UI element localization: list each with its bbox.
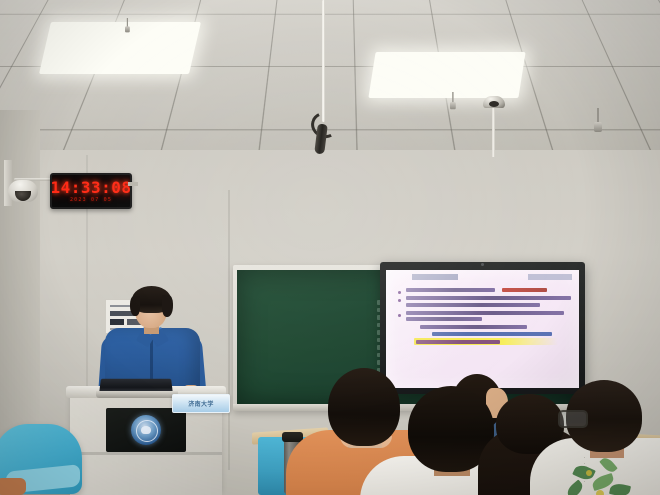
slide-highlighted-text (414, 338, 558, 345)
lectern-edge (70, 452, 222, 455)
wall-seam (228, 190, 230, 470)
person-arm-foreground (0, 478, 26, 495)
nameplate-text: 济南大学 (188, 399, 214, 408)
slide-subline (420, 325, 527, 329)
slide-bullet (398, 296, 570, 307)
slide-content (386, 270, 579, 388)
camera-mount-pole (492, 103, 495, 157)
classroom-photo: 14:33:08 2023 07 05 (0, 0, 660, 495)
slide-header (394, 274, 572, 281)
slide-header-tag-right (528, 274, 572, 280)
slide-bullet (398, 288, 570, 292)
display-indicator-led (481, 263, 484, 266)
shirt-print-text: . . . . . (584, 454, 586, 484)
lectern-front-panel (106, 408, 186, 452)
presenter-hair (132, 286, 171, 313)
dome-camera-icon (483, 96, 505, 108)
clock-date-display: 2023 07 05 (70, 198, 112, 203)
slide-bullet (398, 311, 570, 322)
led-wall-clock: 14:33:08 2023 07 05 (50, 173, 132, 209)
lectern-nameplate: 济南大学 (172, 394, 230, 413)
slide-bullet-list (398, 288, 570, 348)
slide-subline (432, 332, 552, 336)
clock-time-display: 14:33:08 (50, 180, 131, 196)
recessed-panel-light-left (39, 22, 201, 74)
university-crest-icon (131, 415, 161, 445)
microphone-cable (322, 0, 325, 122)
slide-header-tag-left (412, 274, 458, 280)
clock-mount (128, 182, 138, 186)
eyeglasses-icon (558, 410, 588, 428)
laptop-base (96, 391, 178, 398)
recessed-panel-light-right (368, 52, 525, 98)
wall-dome-security-camera-icon (8, 180, 38, 202)
